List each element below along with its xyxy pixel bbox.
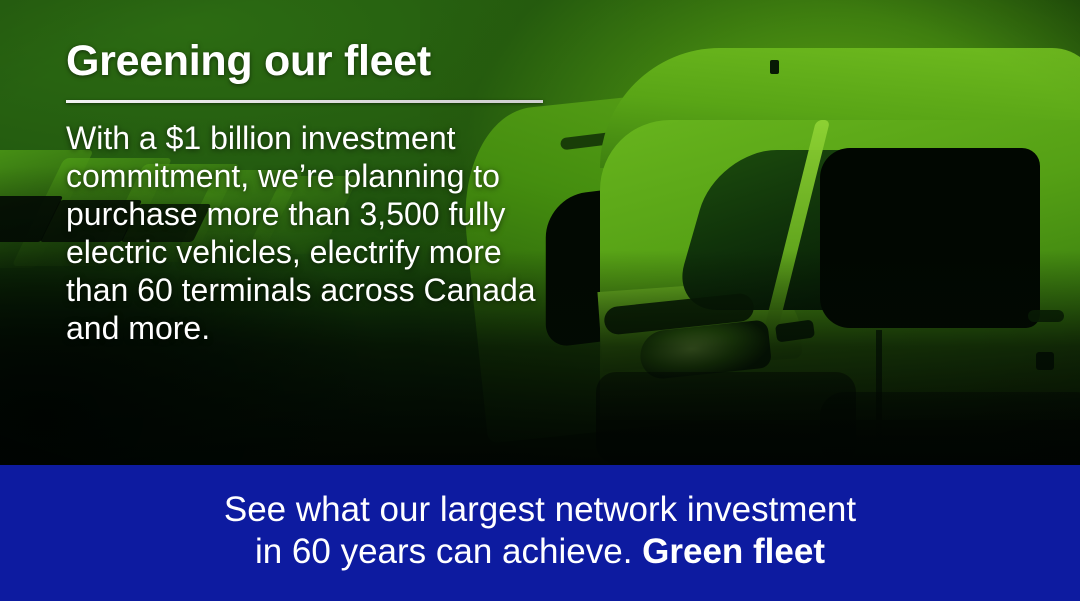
foreground-van-windshield: [671, 150, 917, 310]
foreground-van-front-shadow: [596, 372, 856, 464]
cta-line-1: See what our largest network investment: [224, 490, 856, 529]
foreground-van-a-pillar: [764, 120, 830, 330]
title-divider: [66, 100, 543, 103]
cta-line-2-prefix: in 60 years can achieve.: [255, 532, 642, 571]
promo-body-text: With a $1 billion investment commitment,…: [66, 119, 566, 347]
foreground-van-side-window: [820, 148, 1040, 328]
background-van-window-1: [0, 196, 63, 242]
page-title: Greening our fleet: [66, 40, 586, 83]
cta-banner: See what our largest network investment …: [0, 465, 1080, 601]
foreground-van-door-seam: [876, 330, 882, 440]
foreground-van-grille: [603, 292, 755, 336]
foreground-van-roof: [600, 48, 1080, 168]
promo-copy-block: Greening our fleet With a $1 billion inv…: [66, 40, 586, 347]
green-fleet-link[interactable]: Green fleet: [642, 532, 825, 571]
foreground-van-body-vent: [1036, 352, 1054, 370]
foreground-van-door-handle: [1028, 310, 1064, 322]
foreground-van-body: [600, 120, 1080, 420]
foreground-van-wheel-shadow: [820, 392, 1080, 465]
foreground-van-hood: [597, 278, 802, 372]
foreground-van-antenna: [770, 60, 779, 74]
foreground-van-mirror: [775, 319, 815, 342]
foreground-van-headlight: [638, 319, 772, 380]
promo-card: Greening our fleet With a $1 billion inv…: [0, 0, 1080, 601]
cta-text: See what our largest network investment …: [224, 489, 856, 578]
